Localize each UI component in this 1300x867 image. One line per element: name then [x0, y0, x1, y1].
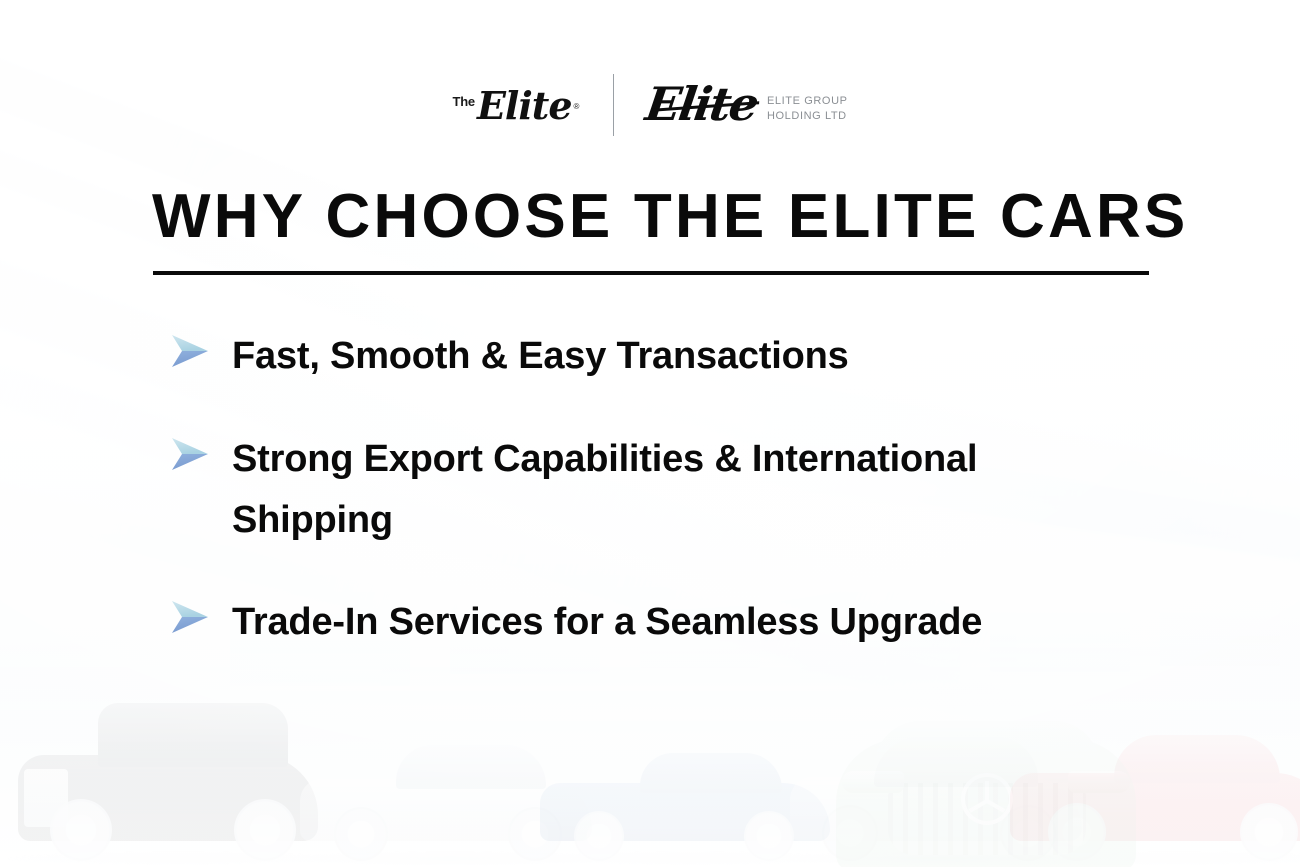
- slide-content: The Elite Cars ® Elite ELITE GROUP HOLDI…: [0, 0, 1300, 867]
- arrow-bullet-icon: [170, 334, 210, 368]
- list-item: Trade-In Services for a Seamless Upgrade: [170, 592, 1180, 653]
- list-item-label: Fast, Smooth & Easy Transactions: [232, 326, 849, 387]
- page-title: WHY CHOOSE THE ELITE CARS: [152, 185, 1148, 249]
- corporate-name-line1: ELITE GROUP: [767, 94, 848, 109]
- arrow-bullet-icon: [170, 600, 210, 634]
- list-item-label: Trade-In Services for a Seamless Upgrade: [232, 592, 982, 653]
- corporate-name: ELITE GROUP HOLDING LTD: [767, 94, 848, 123]
- list-item-label: Strong Export Capabilities & Internation…: [232, 429, 1032, 551]
- corporate-name-line2: HOLDING LTD: [767, 109, 848, 124]
- registered-trademark-icon: ®: [574, 102, 580, 111]
- list-item: Fast, Smooth & Easy Transactions: [170, 326, 1180, 387]
- title-underline-rule: [153, 271, 1149, 275]
- logo-bar: The Elite Cars ® Elite ELITE GROUP HOLDI…: [0, 74, 1300, 136]
- arrow-bullet-icon: [170, 437, 210, 471]
- benefits-list: Fast, Smooth & Easy Transactions: [170, 326, 1180, 653]
- the-elite-cars-logo[interactable]: The Elite Cars ®: [452, 83, 613, 128]
- elite-script-mark: Elite: [644, 84, 760, 125]
- list-item: Strong Export Capabilities & Internation…: [170, 429, 1180, 551]
- slide-canvas: The Elite Cars ® Elite ELITE GROUP HOLDI…: [0, 0, 1300, 867]
